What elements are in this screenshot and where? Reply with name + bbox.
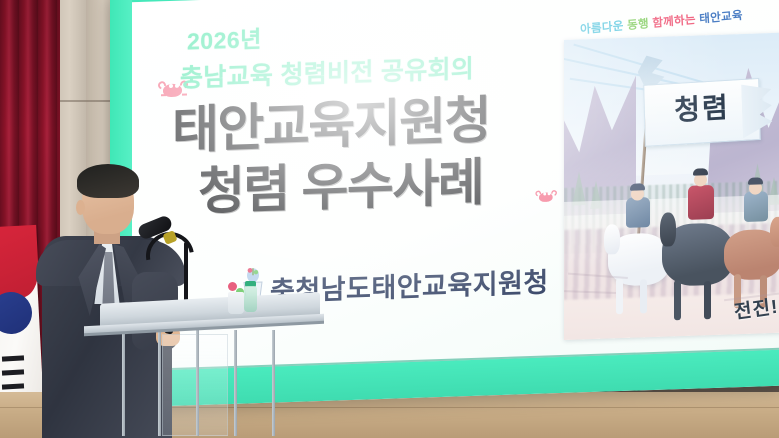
crab-icon-small bbox=[535, 189, 552, 202]
rider-helmet bbox=[693, 168, 708, 175]
slogan-word-3: 함께하는 bbox=[652, 14, 696, 30]
presentation-photo: 2026년 충남교육 청렴비전 공유회의 태안교육지원청 청렴 우수사례 충청남… bbox=[0, 0, 779, 438]
lectern-leg bbox=[158, 330, 161, 436]
slogan-word-2: 동행 bbox=[627, 18, 649, 32]
rider-body bbox=[744, 191, 768, 222]
horse-leg bbox=[674, 280, 681, 320]
horse-leg bbox=[640, 279, 647, 313]
horse-head bbox=[660, 212, 676, 247]
illustration-panel: 청렴 bbox=[564, 33, 779, 340]
horse-leg bbox=[616, 278, 623, 314]
slogan-word-1: 아름다운 bbox=[580, 20, 624, 36]
lectern-leg bbox=[272, 330, 275, 436]
lectern-leg bbox=[234, 330, 237, 436]
crab-leg-left bbox=[161, 94, 166, 96]
rider-body bbox=[626, 197, 650, 228]
lectern-front-panel bbox=[162, 334, 228, 436]
slide-kicker: 2026년 bbox=[187, 20, 262, 56]
horse-head bbox=[604, 224, 620, 255]
banner-text: 청렴 bbox=[643, 84, 760, 131]
slide-title-line-1: 태안교육지원청 bbox=[172, 94, 490, 156]
illustration-slogan: 아름다운 동행 함께하는 태안교육 bbox=[580, 2, 779, 37]
rider-body bbox=[688, 185, 714, 220]
slide-title-line-2: 청렴 우수사례 bbox=[198, 157, 483, 217]
lectern-leg bbox=[196, 330, 199, 436]
lectern bbox=[100, 298, 320, 438]
rider-helmet bbox=[630, 183, 645, 190]
wall-seam bbox=[56, 100, 114, 102]
rider-helmet bbox=[748, 177, 763, 184]
tumbler-cup bbox=[228, 292, 244, 314]
horse-leg bbox=[704, 281, 711, 319]
ear bbox=[76, 200, 85, 215]
hair bbox=[77, 164, 139, 198]
slogan-word-4: 태안교육 bbox=[699, 10, 743, 26]
horse-head bbox=[770, 217, 779, 248]
flag-red-field bbox=[0, 225, 40, 299]
lectern-leg bbox=[122, 330, 125, 436]
slide-subheading: 충남교육 청렴비전 공유회의 bbox=[180, 49, 474, 95]
water-bottle bbox=[244, 286, 257, 312]
